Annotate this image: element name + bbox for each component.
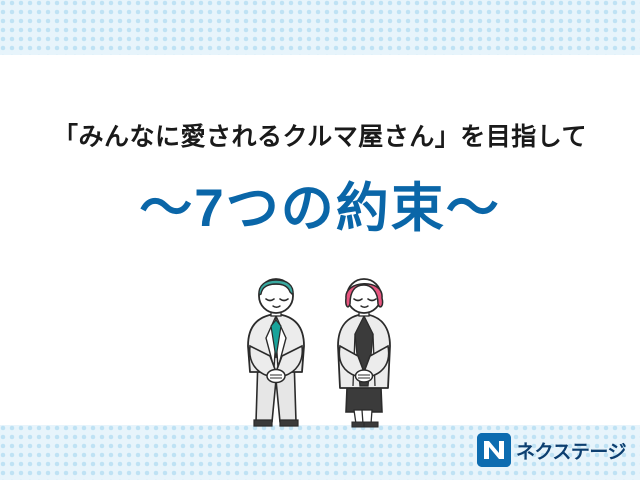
brand-name: ネクステージ <box>516 437 626 464</box>
dotted-background-top <box>0 0 640 55</box>
slide-canvas: 「みんなに愛されるクルマ屋さん」を目指して 〜7つの約束〜 <box>0 0 640 480</box>
illustration-group <box>236 272 416 432</box>
brand-logo: ネクステージ <box>477 432 626 468</box>
nexstage-n-mark-icon <box>477 433 511 467</box>
bowing-businesswoman-illustration <box>324 272 404 437</box>
page-title-primary: 「みんなに愛されるクルマ屋さん」を目指して <box>0 124 640 152</box>
page-title-secondary: 〜7つの約束〜 <box>0 181 640 237</box>
bowing-businessman-illustration <box>236 272 316 437</box>
